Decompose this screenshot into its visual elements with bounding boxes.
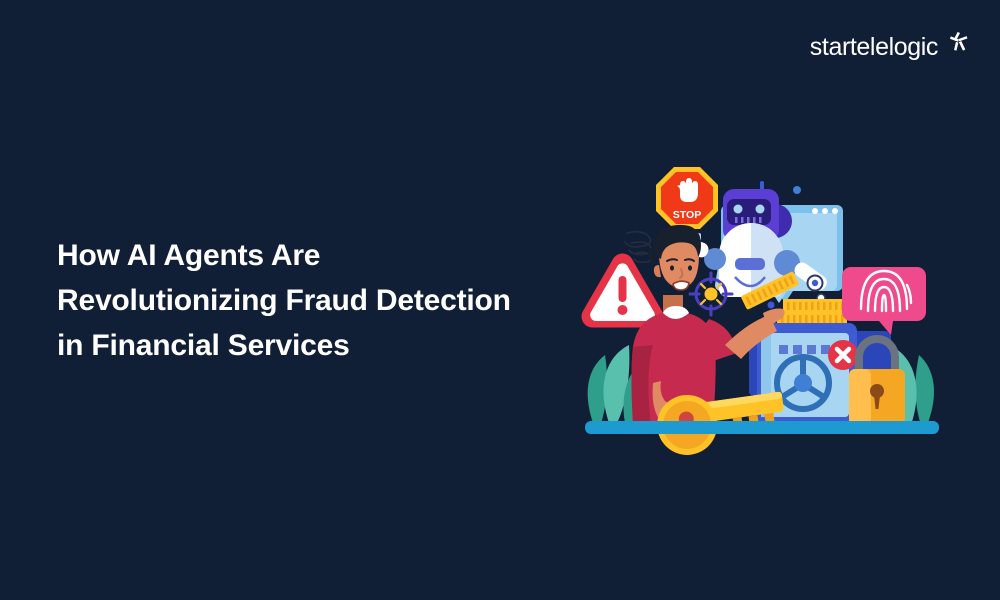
- sparkle-star-icon: [944, 30, 970, 56]
- safe-error-badge: [828, 340, 858, 370]
- page-title-line-3: in Financial Services: [57, 323, 587, 368]
- page-title: How AI Agents Are Revolutionizing Fraud …: [57, 233, 587, 368]
- fingerprint-chat-bubble: [842, 267, 926, 335]
- stop-sign-label: STOP: [673, 209, 701, 221]
- blog-banner: startelelogic How AI Agents Are Revoluti…: [0, 0, 1000, 600]
- page-title-line-1: How AI Agents Are: [57, 233, 587, 278]
- page-title-line-2: Revolutionizing Fraud Detection: [57, 278, 587, 323]
- ground-platform: [585, 421, 939, 434]
- brand-logo-text: startelelogic: [810, 35, 938, 60]
- fraud-detection-illustration: STOP: [575, 155, 955, 455]
- brand-logo[interactable]: startelelogic: [810, 30, 970, 65]
- warning-triangle-icon: [582, 254, 664, 328]
